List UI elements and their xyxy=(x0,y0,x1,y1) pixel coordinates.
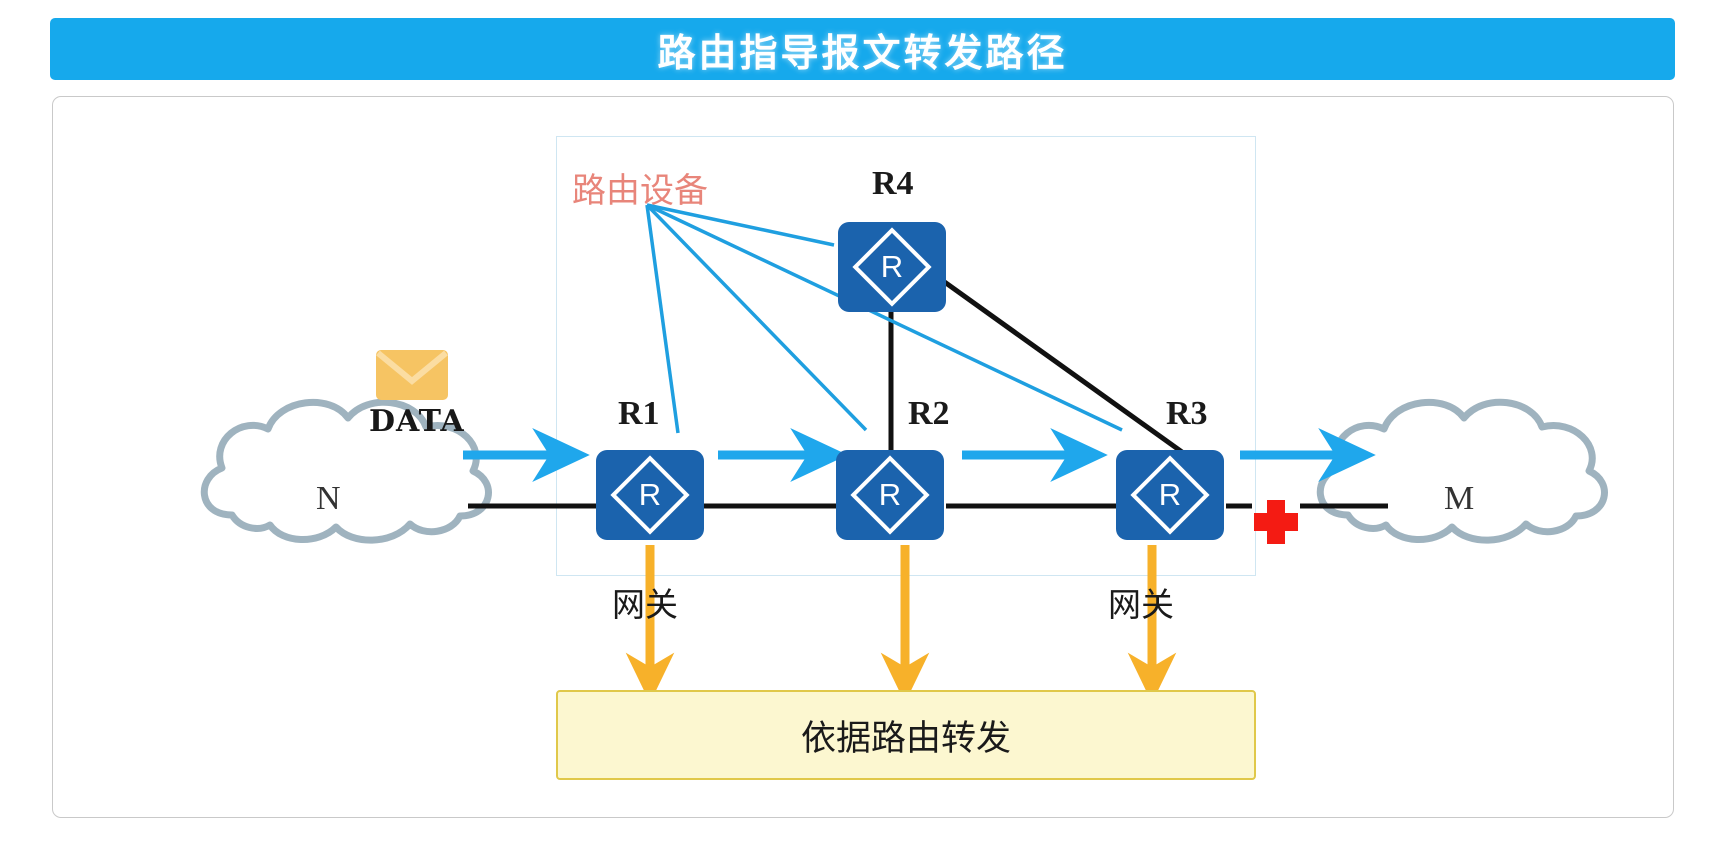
router-node-r1[interactable]: R xyxy=(596,450,704,540)
router-glyph: R xyxy=(836,450,944,540)
gateway-label-left: 网关 xyxy=(612,578,678,626)
link-failure-cross-icon xyxy=(1254,500,1298,544)
router-node-r2[interactable]: R xyxy=(836,450,944,540)
gateway-label-right: 网关 xyxy=(1108,578,1174,626)
diagram-page: 路由指导报文转发路径 xyxy=(0,0,1716,862)
router-label-r3: R3 xyxy=(1166,395,1208,433)
router-glyph: R xyxy=(596,450,704,540)
router-glyph: R xyxy=(1116,450,1224,540)
router-glyph: R xyxy=(838,222,946,312)
routing-device-label: 路由设备 xyxy=(572,163,708,212)
router-node-r4[interactable]: R xyxy=(838,222,946,312)
data-envelope-icon xyxy=(376,350,448,400)
router-node-r3[interactable]: R xyxy=(1116,450,1224,540)
forward-note-text: 依据路由转发 xyxy=(801,710,1011,761)
data-label: DATA xyxy=(369,404,465,439)
cloud-label-n: N xyxy=(316,480,341,518)
cloud-label-m: M xyxy=(1444,480,1474,518)
cross-bar-vertical xyxy=(1267,500,1285,544)
title-banner: 路由指导报文转发路径 xyxy=(50,18,1675,80)
page-title: 路由指导报文转发路径 xyxy=(657,22,1067,77)
router-label-r1: R1 xyxy=(618,395,660,433)
router-label-r4: R4 xyxy=(872,165,914,203)
router-label-r2: R2 xyxy=(908,395,950,433)
forward-note-box: 依据路由转发 xyxy=(556,690,1256,780)
envelope-flap-icon xyxy=(376,350,448,400)
